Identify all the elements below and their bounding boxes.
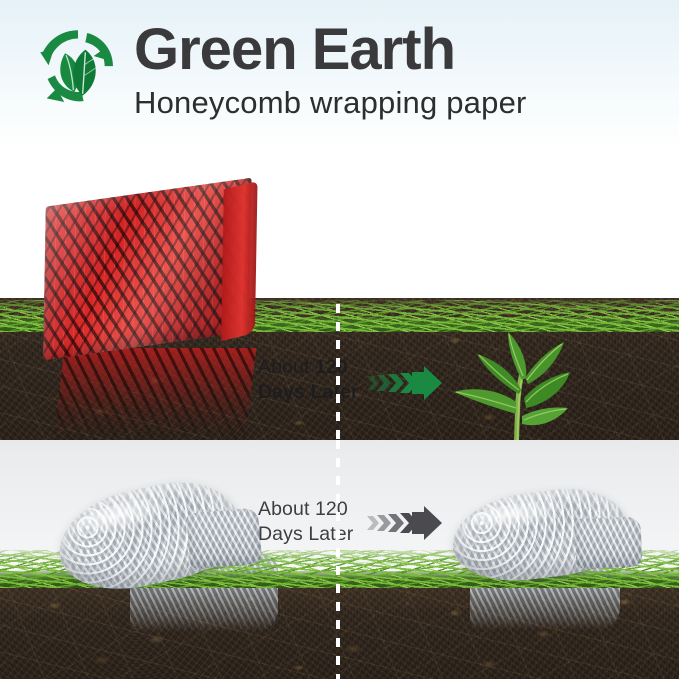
caption-line-1: About 120 (258, 355, 359, 380)
caption-prefix: About (258, 498, 315, 520)
panel-non-biodegradable-plastic: About 120 Days Later (0, 440, 679, 679)
panel-divider-dashed-bottom (336, 440, 340, 679)
product-infographic: Green Earth Honeycomb wrapping paper (0, 0, 679, 679)
caption-days-number: 120 (315, 498, 348, 520)
caption-prefix: About (258, 356, 315, 378)
red-honeycomb-paper-sheet (43, 178, 252, 361)
panel-divider-dashed-top (336, 304, 340, 440)
plastic-roll-tail (575, 517, 643, 569)
recycle-leaves-icon (32, 22, 124, 114)
header-content: Green Earth Honeycomb wrapping paper (32, 18, 527, 122)
seedling-icon (452, 328, 612, 440)
product-subtitle: Honeycomb wrapping paper (134, 84, 527, 122)
brand-title: Green Earth (134, 20, 527, 80)
arrow-right-icon-green (367, 366, 443, 400)
caption-line-2: Days Later (258, 380, 359, 405)
caption-days-number: 120 (315, 356, 348, 378)
arrow-right-icon-gray (367, 506, 443, 540)
header-banner: Green Earth Honeycomb wrapping paper (0, 0, 679, 152)
plastic-roll-tail (186, 507, 263, 569)
decomposing-honeycomb-underground (52, 348, 257, 440)
header-text-block: Green Earth Honeycomb wrapping paper (134, 18, 527, 122)
panel-biodegradable-honeycomb: About 120 Days Later (0, 152, 679, 440)
honeycomb-edge-curl (221, 181, 257, 341)
caption-biodegradable: About 120 Days Later (258, 355, 359, 405)
